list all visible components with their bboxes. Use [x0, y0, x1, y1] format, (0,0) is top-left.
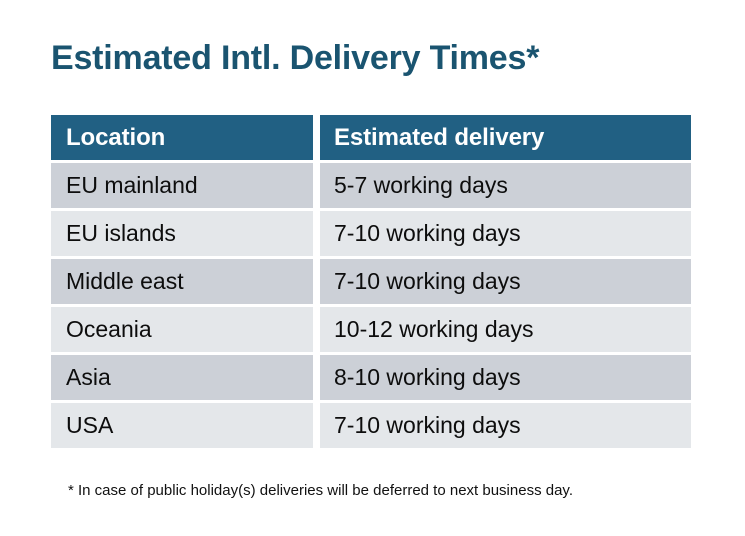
cell-location: Middle east — [51, 259, 313, 304]
table-row: Oceania 10-12 working days — [51, 307, 691, 352]
cell-location: Asia — [51, 355, 313, 400]
cell-estimated-delivery: 10-12 working days — [320, 307, 691, 352]
cell-estimated-delivery: 5-7 working days — [320, 163, 691, 208]
table-row: USA 7-10 working days — [51, 403, 691, 448]
cell-estimated-delivery: 7-10 working days — [320, 259, 691, 304]
cell-estimated-delivery: 7-10 working days — [320, 211, 691, 256]
cell-estimated-delivery: 8-10 working days — [320, 355, 691, 400]
page-title: Estimated Intl. Delivery Times* — [51, 36, 539, 80]
cell-location: EU mainland — [51, 163, 313, 208]
column-header-estimated-delivery: Estimated delivery — [320, 115, 691, 160]
cell-location: Oceania — [51, 307, 313, 352]
table-row: EU mainland 5-7 working days — [51, 163, 691, 208]
table-row: Asia 8-10 working days — [51, 355, 691, 400]
table-row: EU islands 7-10 working days — [51, 211, 691, 256]
cell-location: USA — [51, 403, 313, 448]
table-row: Middle east 7-10 working days — [51, 259, 691, 304]
column-header-location: Location — [51, 115, 313, 160]
table-header-row: Location Estimated delivery — [51, 115, 691, 160]
cell-location: EU islands — [51, 211, 313, 256]
delivery-times-page: Estimated Intl. Delivery Times* Location… — [0, 0, 745, 536]
estimated-delivery-table: Location Estimated delivery EU mainland … — [51, 115, 691, 451]
footnote-text: * In case of public holiday(s) deliverie… — [68, 481, 573, 501]
cell-estimated-delivery: 7-10 working days — [320, 403, 691, 448]
